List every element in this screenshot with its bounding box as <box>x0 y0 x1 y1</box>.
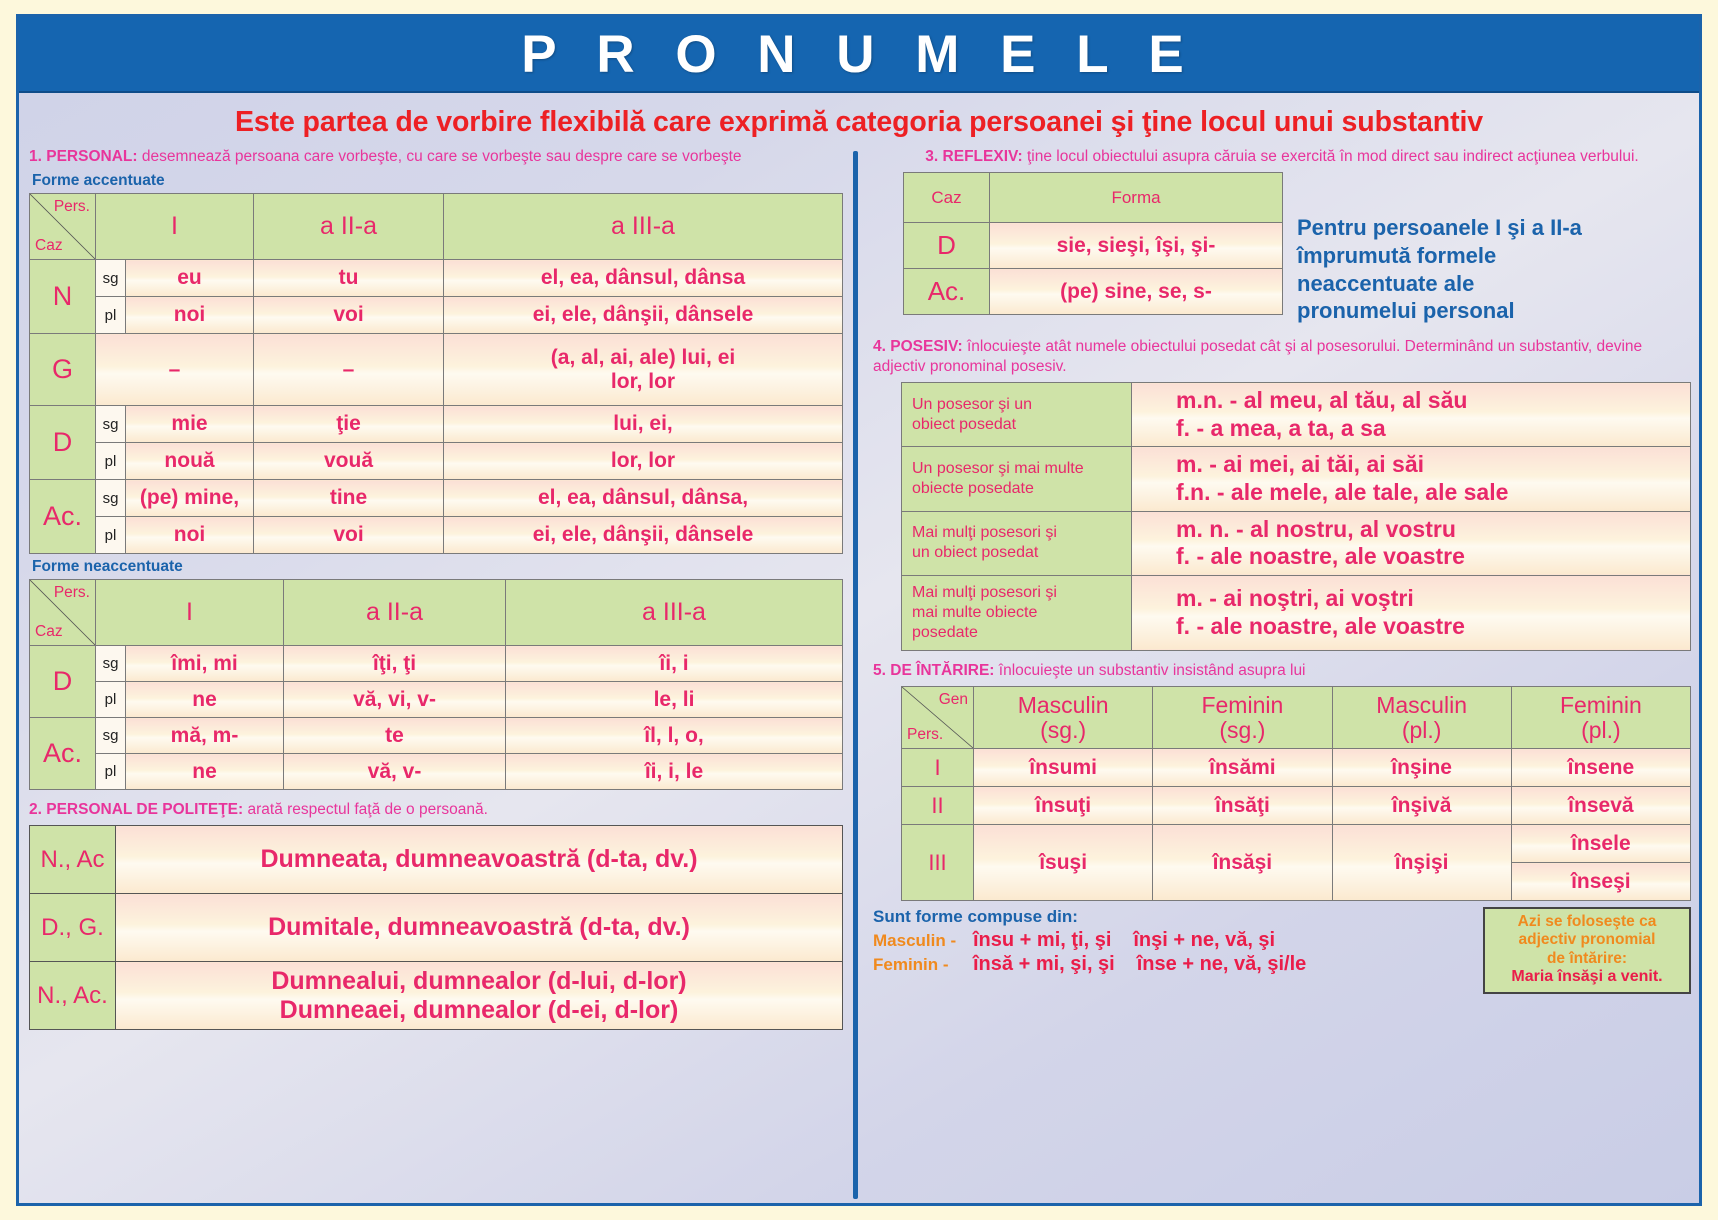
note-line-4: Maria însăşi a venit. <box>1489 968 1685 987</box>
politete-value: Dumneata, dumneavoastră (d-ta, dv.) <box>116 826 843 894</box>
section-posesiv-desc: înlocuieşte atât numele obiectului posed… <box>873 338 1642 375</box>
cell-sg-p2: tu <box>254 260 444 297</box>
corner-bottom-label: Caz <box>35 623 63 641</box>
compuse-gender: Feminin - <box>873 955 965 975</box>
cell-sg-p3: îi, i <box>506 646 843 682</box>
section-posesiv-number: 4. <box>873 338 886 355</box>
table-row: D sg mieţielui, ei, <box>30 406 843 443</box>
cell-sg-p2: te <box>284 718 506 754</box>
case-label: N., Ac <box>30 826 116 894</box>
corner-top-label: Pers. <box>54 584 90 602</box>
cell-sg-p1: îmi, mi <box>126 646 284 682</box>
corner-header: Pers. Caz <box>30 194 96 260</box>
cell-pl-p1: noi <box>126 517 254 554</box>
corner-bottom-label: Caz <box>35 237 63 255</box>
compuse-gender: Masculin - <box>873 931 965 951</box>
note-line-2: adjectiv pronomial <box>1489 931 1685 949</box>
section-posesiv-heading: 4. POSESIV: înlocuieşte atât numele obie… <box>873 337 1691 377</box>
header-person-3: a III-a <box>506 580 843 646</box>
table-header-row: Pers. Caz Ia II-aa III-a <box>30 194 843 260</box>
cell-pl-p1: noi <box>126 297 254 334</box>
corner-header: Gen Pers. <box>902 687 974 749</box>
cell-sg-p2: ţie <box>254 406 444 443</box>
case-label: Ac. <box>30 718 96 790</box>
section-posesiv-name: POSESIV: <box>890 338 962 355</box>
table-row: N., Ac. Dumnealui, dumnealor (d-lui, d-l… <box>30 962 843 1030</box>
politete-value: Dumnealui, dumnealor (d-lui, d-lor)Dumne… <box>116 962 843 1030</box>
label-forme-neaccentuate: Forme neaccentuate <box>32 558 843 576</box>
table-row: N sg eutuel, ea, dânsul, dânsa <box>30 260 843 297</box>
cell-col-3: înşine <box>1332 749 1511 787</box>
cell-pl-p3: îi, i, le <box>506 754 843 790</box>
cell-pl-p3: ei, ele, dânşii, dânsele <box>444 297 843 334</box>
cell-sg-p3: el, ea, dânsul, dânsa <box>444 260 843 297</box>
table-row: N., Ac Dumneata, dumneavoastră (d-ta, dv… <box>30 826 843 894</box>
case-label: D <box>904 223 990 269</box>
section-personal-desc: desemnează persoana care vorbeşte, cu ca… <box>142 148 742 165</box>
number-sg: sg <box>96 260 126 297</box>
case-label: D., G. <box>30 894 116 962</box>
compuse-value-b: înse + ne, vă, şi/le <box>1137 953 1307 976</box>
table-row: D., G. Dumitale, dumneavoastră (d-ta, dv… <box>30 894 843 962</box>
posesiv-label: Un posesor şi mai multeobiecte posedate <box>902 447 1132 511</box>
header-col-3: Masculin(pl.) <box>1332 687 1511 749</box>
table-row: Ac. sg mă, m-teîl, l, o, <box>30 718 843 754</box>
number-sg: sg <box>96 406 126 443</box>
table-row: Mai mulţi posesori şiun obiect posedat m… <box>902 511 1691 575</box>
cell-pl-p1: ne <box>126 682 284 718</box>
section-intarire-name: DE ÎNTĂRIRE: <box>890 662 994 679</box>
table-row: Mai mulţi posesori şimai multe obiectepo… <box>902 575 1691 650</box>
header-col-4: Feminin(pl.) <box>1511 687 1690 749</box>
column-divider <box>853 151 858 1199</box>
cell-sg-p2: tine <box>254 480 444 517</box>
posesiv-value: m. - ai noştri, ai voştrif. - ale noastr… <box>1132 575 1691 650</box>
note-line-1: Azi se foloseşte ca <box>1489 913 1685 931</box>
table-politete: N., Ac Dumneata, dumneavoastră (d-ta, dv… <box>29 825 843 1030</box>
header-forma: Forma <box>990 173 1283 223</box>
cell-p1: – <box>96 334 254 406</box>
subtitle: Este partea de vorbire flexibilă care ex… <box>19 93 1699 145</box>
cell-pl-p1: nouă <box>126 443 254 480</box>
reflexiv-form: sie, sieşi, îşi, şi- <box>990 223 1283 269</box>
cell-col-1: însuţi <box>974 787 1153 825</box>
table-row: pl noivoiei, ele, dânşii, dânsele <box>30 297 843 334</box>
case-label: Ac. <box>904 269 990 315</box>
note-box: Azi se foloseşte ca adjectiv pronomial d… <box>1483 907 1691 994</box>
section-intarire-desc: înlocuieşte un substantiv insistând asup… <box>999 662 1306 679</box>
right-column: 3. REFLEXIV: ţine locul obiectului asupr… <box>853 145 1691 1203</box>
number-pl: pl <box>96 297 126 334</box>
cell-p3: (a, al, ai, ale) lui, eilor, lor <box>444 334 843 406</box>
section-politete-name: PERSONAL DE POLITEŢE: <box>46 801 243 818</box>
compuse-row: Masculin - însu + mi, ţi, şi înşi + ne, … <box>873 929 1483 952</box>
cell-masc-pl: înşişi <box>1332 825 1511 901</box>
title-bar: P R O N U M E L E <box>19 17 1699 93</box>
number-sg: sg <box>96 646 126 682</box>
cell-col-2: însămi <box>1153 749 1332 787</box>
compuse-value-b: înşi + ne, vă, şi <box>1133 929 1275 952</box>
cell-pl-p2: voi <box>254 297 444 334</box>
cell-pl-p2: vă, v- <box>284 754 506 790</box>
table-forme-neaccentuate: Pers. Caz Ia II-aa III-a D sg îmi, miîţi… <box>29 579 843 790</box>
cell-pl-p3: lor, lor <box>444 443 843 480</box>
cell-col-2: însăţi <box>1153 787 1332 825</box>
table-header-row: Caz Forma <box>904 173 1283 223</box>
posesiv-value: m.n. - al meu, al tău, al săuf. - a mea,… <box>1132 383 1691 447</box>
label-forme-accentuate: Forme accentuate <box>32 172 843 190</box>
number-pl: pl <box>96 682 126 718</box>
table-reflexiv: Caz Forma D sie, sieşi, îşi, şi- Ac. (pe… <box>903 172 1283 315</box>
table-row: pl noivoiei, ele, dânşii, dânsele <box>30 517 843 554</box>
person-label: II <box>902 787 974 825</box>
compuse-value-a: însă + mi, şi, şi <box>973 953 1115 976</box>
section-politete-number: 2. <box>29 801 42 818</box>
person-label: III <box>902 825 974 901</box>
header-person-1: I <box>96 580 284 646</box>
cell-sg-p1: eu <box>126 260 254 297</box>
cell-p2: – <box>254 334 444 406</box>
table-header-row: Pers. Caz Ia II-aa III-a <box>30 580 843 646</box>
compuse-row: Feminin - însă + mi, şi, şi înse + ne, v… <box>873 953 1483 976</box>
number-pl: pl <box>96 517 126 554</box>
cell-sg-p3: îl, l, o, <box>506 718 843 754</box>
section-reflexiv-number: 3. <box>925 148 938 165</box>
politete-value: Dumitale, dumneavoastră (d-ta, dv.) <box>116 894 843 962</box>
header-person-2: a II-a <box>284 580 506 646</box>
case-label: N <box>30 260 96 334</box>
table-row: Ac. (pe) sine, se, s- <box>904 269 1283 315</box>
table-forme-accentuate: Pers. Caz Ia II-aa III-a N sg eutuel, ea… <box>29 193 843 554</box>
header-col-1: Masculin(sg.) <box>974 687 1153 749</box>
cell-sg-p1: (pe) mine, <box>126 480 254 517</box>
header-person-1: I <box>96 194 254 260</box>
table-row: Un posesor şi mai multeobiecte posedate … <box>902 447 1691 511</box>
corner-top-label: Gen <box>939 691 968 709</box>
reflexiv-note: Pentru persoanele I şi a II-aîmprumută f… <box>1297 172 1582 325</box>
case-label: D <box>30 406 96 480</box>
posesiv-label: Un posesor şi unobiect posedat <box>902 383 1132 447</box>
cell-sg-p3: lui, ei, <box>444 406 843 443</box>
table-intarire: Gen Pers. Masculin(sg.)Feminin(sg.)Mascu… <box>901 686 1691 901</box>
header-col-2: Feminin(sg.) <box>1153 687 1332 749</box>
table-row: D sg îmi, miîţi, ţiîi, i <box>30 646 843 682</box>
table-row: G ––(a, al, ai, ale) lui, eilor, lor <box>30 334 843 406</box>
cell-col-1: însumi <box>974 749 1153 787</box>
reflexiv-block: Caz Forma D sie, sieşi, îşi, şi- Ac. (pe… <box>873 172 1691 325</box>
cell-sg-p3: el, ea, dânsul, dânsa, <box>444 480 843 517</box>
cell-pl-p3: ei, ele, dânşii, dânsele <box>444 517 843 554</box>
cell-pl-p1: ne <box>126 754 284 790</box>
header-person-3: a III-a <box>444 194 843 260</box>
section-personal-number: 1. <box>29 148 42 165</box>
cell-fem-pl-b: înseşi <box>1511 863 1690 901</box>
page-title: P R O N U M E L E <box>521 28 1197 81</box>
posesiv-label: Mai mulţi posesori şimai multe obiectepo… <box>902 575 1132 650</box>
compuse-left: Sunt forme compuse din: Masculin - însu … <box>873 907 1483 976</box>
cell-masc-sg: îsuşi <box>974 825 1153 901</box>
cell-sg-p1: mă, m- <box>126 718 284 754</box>
table-row: Un posesor şi unobiect posedat m.n. - al… <box>902 383 1691 447</box>
table-row: III îsuşi însăşi înşişi însele <box>902 825 1691 863</box>
section-reflexiv-heading: 3. REFLEXIV: ţine locul obiectului asupr… <box>873 147 1691 167</box>
cell-sg-p2: îţi, ţi <box>284 646 506 682</box>
posesiv-value: m. - ai mei, ai tăi, ai săif.n. - ale me… <box>1132 447 1691 511</box>
section-reflexiv-name: REFLEXIV: <box>943 148 1023 165</box>
number-sg: sg <box>96 718 126 754</box>
section-intarire-number: 5. <box>873 662 886 679</box>
corner-bottom-label: Pers. <box>907 726 943 744</box>
number-pl: pl <box>96 754 126 790</box>
corner-header: Pers. Caz <box>30 580 96 646</box>
posesiv-value: m. n. - al nostru, al vostruf. - ale noa… <box>1132 511 1691 575</box>
section-reflexiv-desc: ţine locul obiectului asupra căruia se e… <box>1027 148 1639 165</box>
table-posesiv: Un posesor şi unobiect posedat m.n. - al… <box>901 382 1691 651</box>
poster-root: P R O N U M E L E Este partea de vorbire… <box>0 0 1718 1220</box>
reflexiv-form: (pe) sine, se, s- <box>990 269 1283 315</box>
section-personal-heading: 1. PERSONAL: desemnează persoana care vo… <box>29 147 843 167</box>
number-pl: pl <box>96 443 126 480</box>
case-label: N., Ac. <box>30 962 116 1030</box>
case-label: D <box>30 646 96 718</box>
header-caz: Caz <box>904 173 990 223</box>
poster-frame: P R O N U M E L E Este partea de vorbire… <box>16 14 1702 1206</box>
person-label: I <box>902 749 974 787</box>
compuse-value-a: însu + mi, ţi, şi <box>973 929 1111 952</box>
note-line-3: de întărire: <box>1489 950 1685 968</box>
cell-pl-p2: vă, vi, v- <box>284 682 506 718</box>
left-column: 1. PERSONAL: desemnează persoana care vo… <box>29 145 853 1203</box>
table-row: D sie, sieşi, îşi, şi- <box>904 223 1283 269</box>
table-row: II însuţiînsăţiînşivăînsevă <box>902 787 1691 825</box>
header-person-2: a II-a <box>254 194 444 260</box>
content-columns: 1. PERSONAL: desemnează persoana care vo… <box>19 145 1699 1203</box>
posesiv-label: Mai mulţi posesori şiun obiect posedat <box>902 511 1132 575</box>
cell-col-4: însene <box>1511 749 1690 787</box>
section-personal-name: PERSONAL: <box>46 148 137 165</box>
case-label: G <box>30 334 96 406</box>
cell-fem-sg: însăşi <box>1153 825 1332 901</box>
case-label: Ac. <box>30 480 96 554</box>
number-sg: sg <box>96 480 126 517</box>
cell-fem-pl-a: însele <box>1511 825 1690 863</box>
section-intarire-heading: 5. DE ÎNTĂRIRE: înlocuieşte un substanti… <box>873 661 1691 681</box>
cell-col-3: înşivă <box>1332 787 1511 825</box>
table-row: pl nevă, v-îi, i, le <box>30 754 843 790</box>
table-row: pl nevă, vi, v-le, li <box>30 682 843 718</box>
cell-col-4: însevă <box>1511 787 1690 825</box>
cell-pl-p2: voi <box>254 517 444 554</box>
section-politete-desc: arată respectul faţă de o persoană. <box>248 801 488 818</box>
corner-top-label: Pers. <box>54 198 90 216</box>
table-row: I însumiînsămiînşineînsene <box>902 749 1691 787</box>
table-row: Ac. sg (pe) mine,tineel, ea, dânsul, dân… <box>30 480 843 517</box>
table-header-row: Gen Pers. Masculin(sg.)Feminin(sg.)Mascu… <box>902 687 1691 749</box>
section-politete-heading: 2. PERSONAL DE POLITEŢE: arată respectul… <box>29 800 843 820</box>
compuse-block: Sunt forme compuse din: Masculin - însu … <box>873 907 1691 994</box>
cell-pl-p3: le, li <box>506 682 843 718</box>
table-row: pl nouăvouălor, lor <box>30 443 843 480</box>
cell-sg-p1: mie <box>126 406 254 443</box>
cell-pl-p2: vouă <box>254 443 444 480</box>
compuse-title: Sunt forme compuse din: <box>873 907 1483 927</box>
